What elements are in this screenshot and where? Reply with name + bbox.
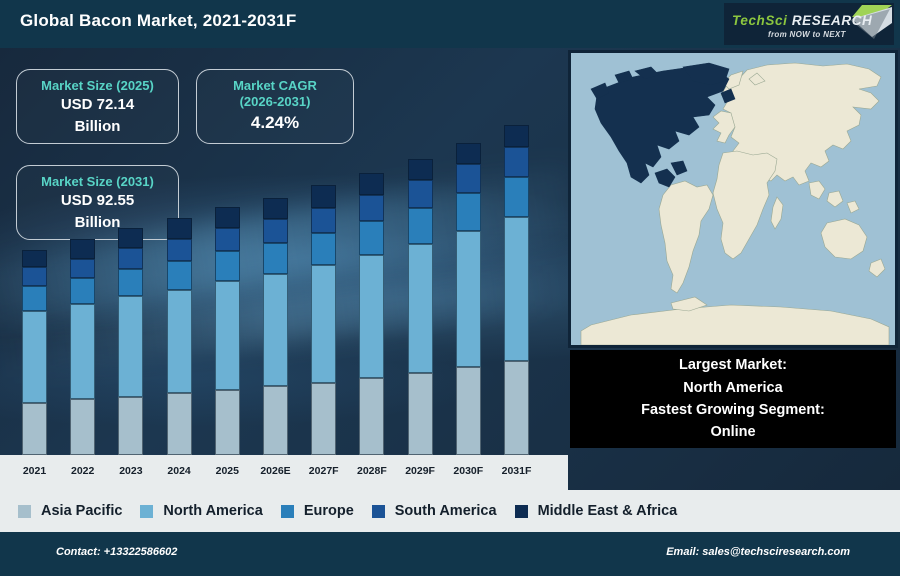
world-map-svg [571,53,895,345]
bar-segment-north-america [311,265,336,383]
bar-segment-middle-east-africa [118,228,143,248]
bar-segment-north-america [22,311,47,404]
legend-label-asia-pacific: Asia Pacific [41,503,122,519]
bar-segment-asia-pacific [22,403,47,455]
market-highlights-panel: Largest Market: North America Fastest Gr… [570,350,896,448]
bar-2027F [311,185,336,455]
bar-segment-asia-pacific [311,383,336,455]
bar-segment-middle-east-africa [359,173,384,195]
bar-segment-middle-east-africa [167,218,192,240]
legend-item-middle-east-africa[interactable]: Middle East & Africa [515,503,678,519]
legend-swatch-middle-east-africa [515,505,528,518]
infographic-root: Global Bacon Market, 2021-2031F TechSci … [0,0,900,576]
bar-segment-middle-east-africa [263,198,288,219]
legend-item-south-america[interactable]: South America [372,503,497,519]
bar-2021 [22,250,47,455]
bar-segment-south-america [167,239,192,261]
bar-segment-europe [118,269,143,296]
x-axis-label-2031F: 2031F [489,465,545,477]
bar-segment-europe [22,286,47,310]
legend-swatch-europe [281,505,294,518]
techsci-research-logo: TechSci RESEARCH from NOW to NEXT [724,3,894,45]
bar-segment-north-america [167,290,192,393]
bar-segment-asia-pacific [504,361,529,455]
bar-segment-middle-east-africa [70,239,95,259]
bar-segment-middle-east-africa [456,143,481,164]
legend-item-asia-pacific[interactable]: Asia Pacific [18,503,122,519]
bar-segment-north-america [504,217,529,361]
bar-segment-south-america [118,248,143,269]
bar-segment-europe [167,261,192,290]
bar-segment-asia-pacific [118,397,143,455]
bar-2026E [263,198,288,455]
bar-segment-europe [70,278,95,304]
world-map [571,53,895,345]
bar-segment-europe [504,177,529,217]
footer-bar: Contact: +13322586602 Email: sales@techs… [0,532,900,576]
bar-segment-north-america [408,244,433,373]
bar-segment-north-america [215,281,240,390]
footer-email: Email: sales@techsciresearch.com [666,546,850,558]
logo-research-text: RESEARCH [787,13,872,28]
bar-segment-europe [215,251,240,281]
bar-segment-europe [311,233,336,265]
bar-segment-europe [359,221,384,255]
bar-segment-asia-pacific [167,393,192,455]
bar-segment-north-america [118,296,143,397]
bar-2022 [70,239,95,455]
legend-label-north-america: North America [163,503,262,519]
bar-segment-europe [456,193,481,231]
bar-segment-north-america [359,255,384,378]
bar-2023 [118,228,143,455]
legend-label-middle-east-africa: Middle East & Africa [538,503,678,519]
bar-segment-asia-pacific [70,399,95,455]
bar-segment-north-america [70,304,95,400]
bar-segment-middle-east-africa [22,250,47,268]
bar-segment-south-america [263,219,288,243]
bar-segment-north-america [456,231,481,368]
largest-market-label: Largest Market: [679,354,787,376]
legend-swatch-north-america [140,505,153,518]
bar-segment-middle-east-africa [311,185,336,207]
bar-segment-middle-east-africa [408,159,433,180]
header-bar: Global Bacon Market, 2021-2031F TechSci … [0,0,900,48]
chart-legend: Asia PacificNorth AmericaEuropeSouth Ame… [0,490,900,532]
bar-2028F [359,173,384,455]
logo-wordmark: TechSci RESEARCH [732,14,872,28]
bar-segment-asia-pacific [263,386,288,455]
bar-2030F [456,143,481,455]
bar-segment-south-america [311,208,336,233]
legend-swatch-asia-pacific [18,505,31,518]
bar-segment-south-america [456,164,481,193]
world-map-panel [568,50,898,348]
page-title: Global Bacon Market, 2021-2031F [20,11,296,31]
bar-2029F [408,159,433,455]
bar-segment-south-america [215,228,240,251]
bar-2024 [167,218,192,455]
legend-label-south-america: South America [395,503,497,519]
fastest-segment-label: Fastest Growing Segment: [641,399,825,421]
bar-segment-europe [263,243,288,274]
bar-segment-south-america [504,147,529,177]
legend-item-europe[interactable]: Europe [281,503,354,519]
bar-2025 [215,207,240,455]
bar-segment-middle-east-africa [215,207,240,228]
footer-contact: Contact: +13322586602 [56,546,177,558]
logo-tagline: from NOW to NEXT [768,30,846,39]
bar-segment-south-america [359,195,384,221]
bar-segment-south-america [22,267,47,286]
bar-segment-asia-pacific [215,390,240,455]
legend-item-north-america[interactable]: North America [140,503,262,519]
bar-segment-south-america [70,259,95,279]
bar-segment-asia-pacific [408,373,433,455]
fastest-segment-value: Online [710,421,755,443]
bar-2031F [504,125,529,455]
logo-tech-text: TechSci [732,13,787,28]
largest-market-value: North America [683,377,782,399]
bar-segment-europe [408,208,433,244]
bar-segment-south-america [408,180,433,207]
bar-segment-asia-pacific [456,367,481,455]
bar-segment-north-america [263,274,288,387]
legend-label-europe: Europe [304,503,354,519]
main-panel: Market Size (2025) USD 72.14 Billion Mar… [0,48,900,490]
legend-swatch-south-america [372,505,385,518]
bar-segment-middle-east-africa [504,125,529,147]
bar-segment-asia-pacific [359,378,384,455]
stacked-bar-chart: 202120222023202420252026E2027F2028F2029F… [0,48,568,490]
